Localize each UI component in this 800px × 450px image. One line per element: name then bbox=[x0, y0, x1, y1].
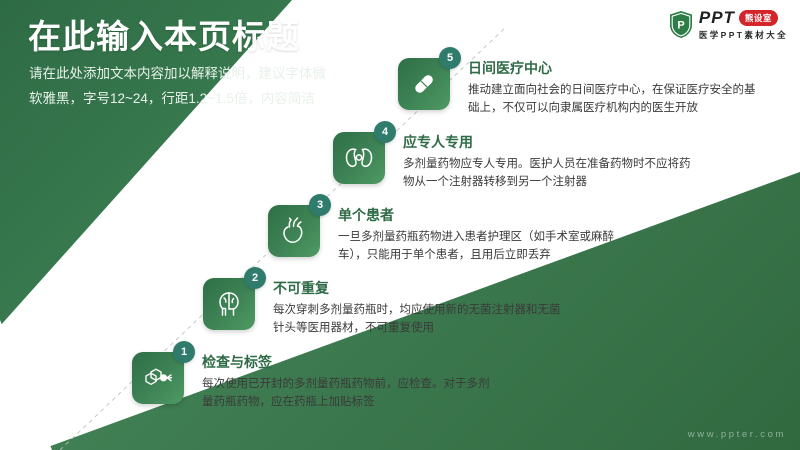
item-desc-line: 物从一个注射器转移到另一个注射器 bbox=[403, 173, 703, 191]
svg-text:P: P bbox=[677, 20, 684, 32]
item-title: 不可重复 bbox=[273, 280, 573, 297]
item-desc-line: 每次穿刺多剂量药瓶时，均应使用新的无菌注射器和无菌 bbox=[273, 301, 573, 319]
capsule-glyph bbox=[409, 69, 439, 99]
item-desc-line: 每次使用已开封的多剂量药瓶药物前，应检查。对于多剂 bbox=[202, 375, 502, 393]
item-description: 每次穿刺多剂量药瓶时，均应使用新的无菌注射器和无菌 针头等医用器材，不可重复使用 bbox=[273, 301, 573, 338]
heart-glyph bbox=[280, 216, 308, 246]
logo-text-block: PPT 熊设室 医学PPT素材大全 bbox=[699, 8, 788, 41]
item-title: 检查与标签 bbox=[202, 354, 502, 371]
item-description: 推动建立面向社会的日间医疗中心，在保证医疗安全的基 础上，不仅可以向隶属医疗机构… bbox=[468, 81, 768, 118]
logo-primary-row: PPT 熊设室 bbox=[699, 8, 788, 28]
item-title: 单个患者 bbox=[338, 207, 638, 224]
item-title: 日间医疗中心 bbox=[468, 60, 768, 77]
subtitle-line-1: 请在此处添加文本内容加以解释说明，建议字体微 bbox=[29, 62, 359, 87]
item-desc-line: 量药瓶药物，应在药瓶上加贴标签 bbox=[202, 393, 502, 411]
page-subtitle: 请在此处添加文本内容加以解释说明，建议字体微 软雅黑，字号12~24，行距1.2… bbox=[29, 62, 359, 112]
item-icon-wrapper[interactable]: 2 bbox=[203, 278, 255, 330]
step-number-badge: 4 bbox=[374, 121, 396, 143]
item-icon-wrapper[interactable]: 4 bbox=[333, 132, 385, 184]
step-number-badge: 1 bbox=[173, 341, 195, 363]
item-icon-wrapper[interactable]: 5 bbox=[398, 58, 450, 110]
page-title: 在此输入本页标题 bbox=[28, 18, 300, 56]
logo-tagline: 医学PPT素材大全 bbox=[699, 29, 788, 41]
item-text-block: 不可重复 每次穿刺多剂量药瓶时，均应使用新的无菌注射器和无菌 针头等医用器材，不… bbox=[273, 280, 573, 338]
item-text-block: 检查与标签 每次使用已开封的多剂量药瓶药物前，应检查。对于多剂 量药瓶药物，应在… bbox=[202, 354, 502, 412]
item-description: 每次使用已开封的多剂量药瓶药物前，应检查。对于多剂 量药瓶药物，应在药瓶上加贴标… bbox=[202, 375, 502, 412]
brand-logo[interactable]: P PPT 熊设室 医学PPT素材大全 bbox=[668, 8, 788, 41]
step-number-badge: 5 bbox=[439, 47, 461, 69]
slide-canvas: 在此输入本页标题 请在此处添加文本内容加以解释说明，建议字体微 软雅黑，字号12… bbox=[0, 0, 800, 450]
step-number-badge: 3 bbox=[309, 194, 331, 216]
item-icon-wrapper[interactable]: 3 bbox=[268, 205, 320, 257]
item-desc-line: 针头等医用器材，不可重复使用 bbox=[273, 319, 573, 337]
subtitle-line-2: 软雅黑，字号12~24，行距1.2~1.5倍，内容简洁 bbox=[29, 87, 359, 112]
item-desc-line: 础上，不仅可以向隶属医疗机构内的医生开放 bbox=[468, 99, 768, 117]
item-text-block: 日间医疗中心 推动建立面向社会的日间医疗中心，在保证医疗安全的基 础上，不仅可以… bbox=[468, 60, 768, 118]
item-description: 多剂量药物应专人专用。医护人员在准备药物时不应将药 物从一个注射器转移到另一个注… bbox=[403, 155, 703, 192]
item-text-block: 应专人专用 多剂量药物应专人专用。医护人员在准备药物时不应将药 物从一个注射器转… bbox=[403, 134, 703, 192]
step-number-badge: 2 bbox=[244, 267, 266, 289]
watermark: www.ppter.com bbox=[688, 429, 786, 440]
item-desc-line: 一旦多剂量药瓶药物进入患者护理区（如手术室或麻醉 bbox=[338, 228, 638, 246]
item-desc-line: 推动建立面向社会的日间医疗中心，在保证医疗安全的基 bbox=[468, 81, 768, 99]
item-desc-line: 车），只能用于单个患者，且用后立即丢弃 bbox=[338, 246, 638, 264]
item-text-block: 单个患者 一旦多剂量药瓶药物进入患者护理区（如手术室或麻醉 车），只能用于单个患… bbox=[338, 207, 638, 265]
item-icon-wrapper[interactable]: 1 bbox=[132, 352, 184, 404]
item-description: 一旦多剂量药瓶药物进入患者护理区（如手术室或麻醉 车），只能用于单个患者，且用后… bbox=[338, 228, 638, 265]
item-desc-line: 多剂量药物应专人专用。医护人员在准备药物时不应将药 bbox=[403, 155, 703, 173]
logo-badge: 熊设室 bbox=[739, 10, 778, 26]
brain-glyph bbox=[215, 289, 243, 319]
item-title: 应专人专用 bbox=[403, 134, 703, 151]
molecule-glyph bbox=[142, 364, 174, 392]
shield-icon: P bbox=[668, 10, 694, 39]
logo-brand-text: PPT bbox=[699, 8, 735, 28]
kidneys-glyph bbox=[343, 145, 375, 171]
